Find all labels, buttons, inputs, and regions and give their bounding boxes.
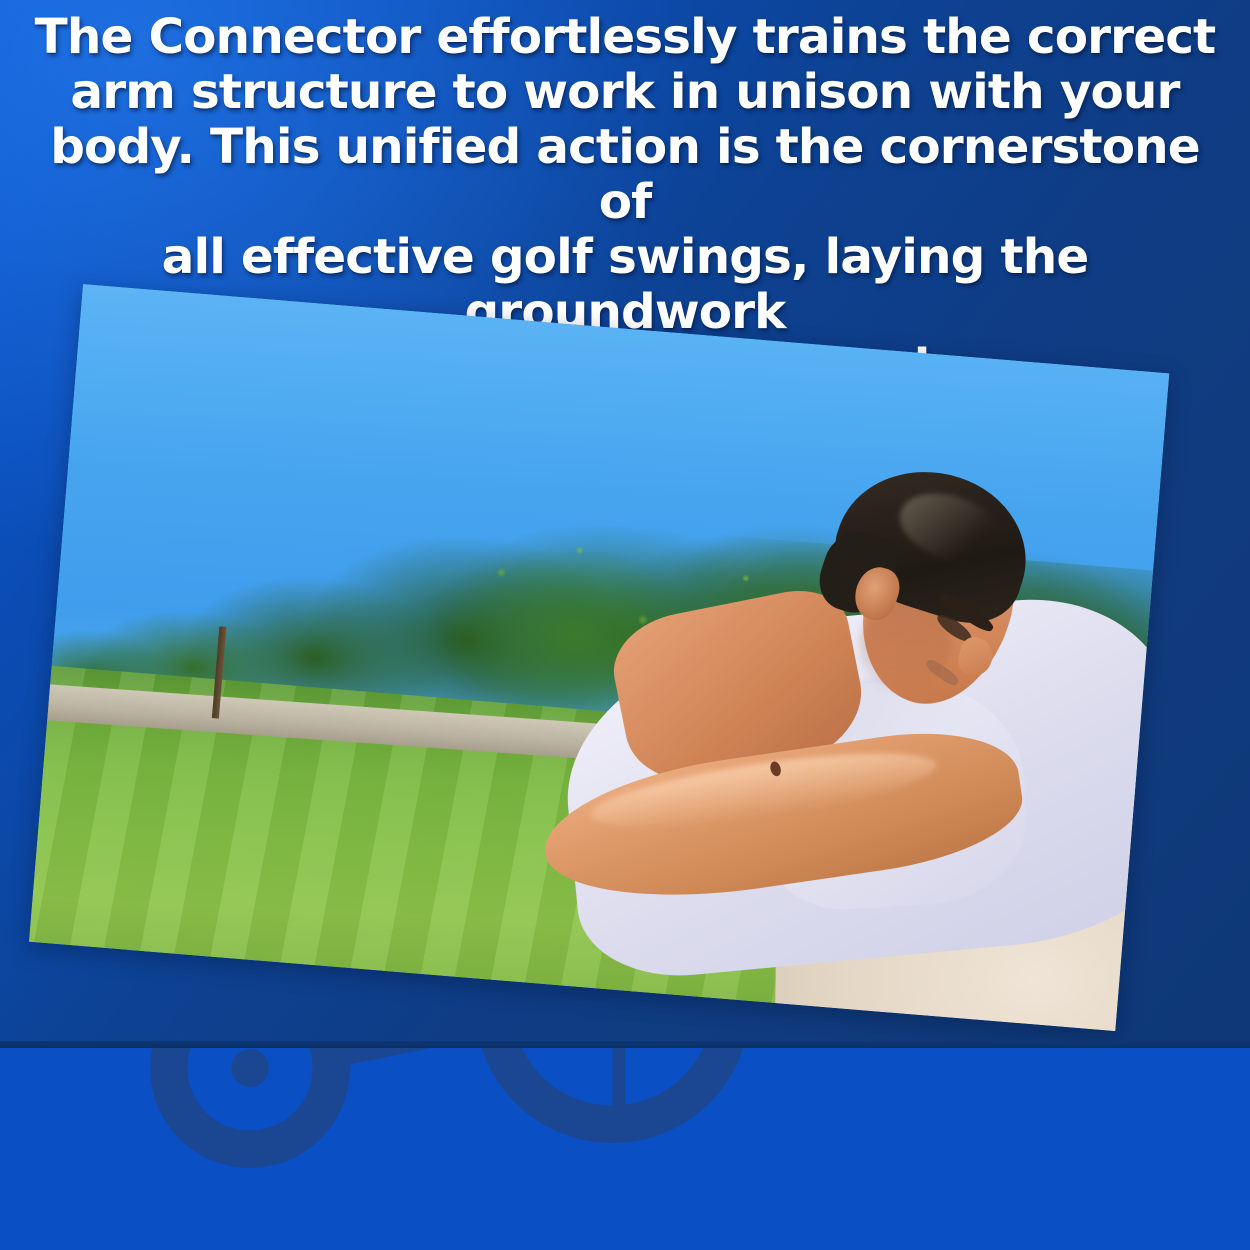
hero-section: The Connector effortlessly trains the co… [0,0,1250,1048]
hero-bottom-strip [0,1041,1250,1048]
poster-root: The Connector effortlessly trains the co… [0,0,1250,1250]
product-photo [29,284,1169,1031]
photo-canvas [29,284,1169,1031]
